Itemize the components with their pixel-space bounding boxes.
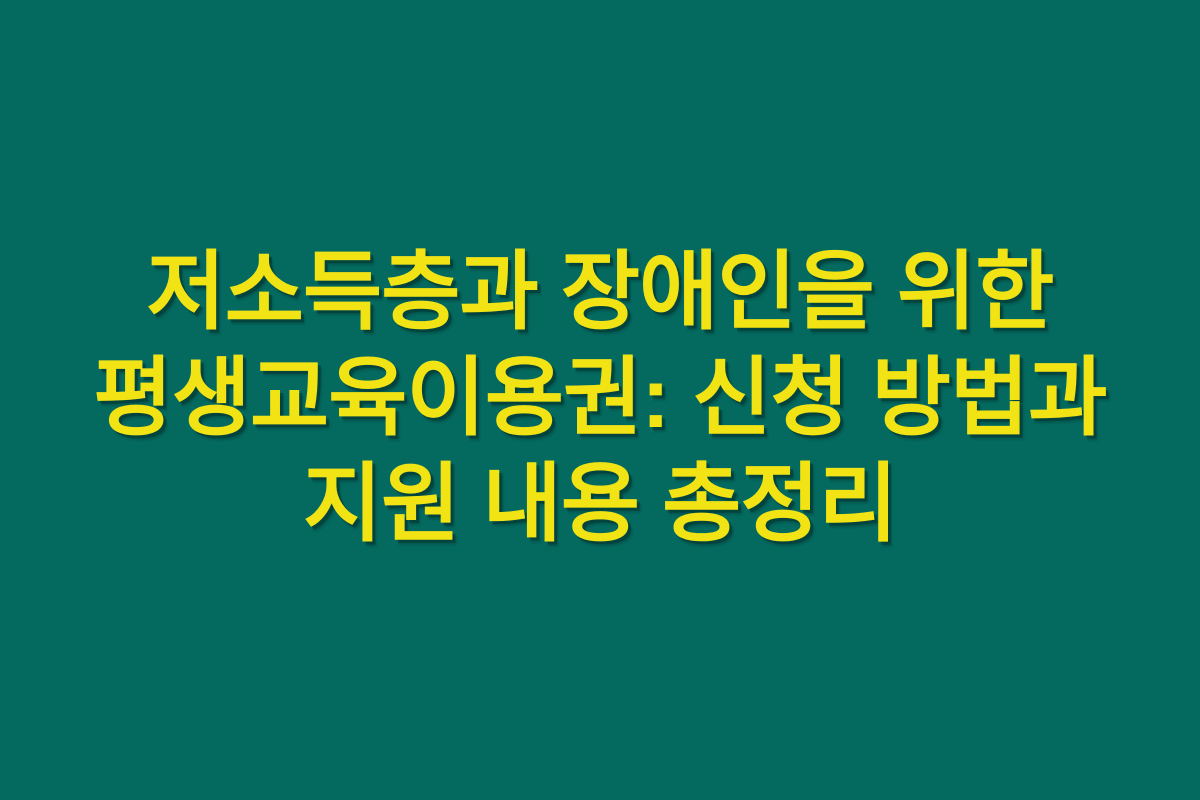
title-line-2: 평생교육이용권: 신청 방법과 [30, 346, 1170, 452]
thumbnail-card: 저소득층과 장애인을 위한 평생교육이용권: 신청 방법과 지원 내용 총정리 [0, 0, 1200, 800]
title-line-1: 저소득층과 장애인을 위한 [30, 240, 1170, 346]
title-line-3: 지원 내용 총정리 [30, 452, 1170, 558]
title-block: 저소득층과 장애인을 위한 평생교육이용권: 신청 방법과 지원 내용 총정리 [20, 240, 1180, 557]
